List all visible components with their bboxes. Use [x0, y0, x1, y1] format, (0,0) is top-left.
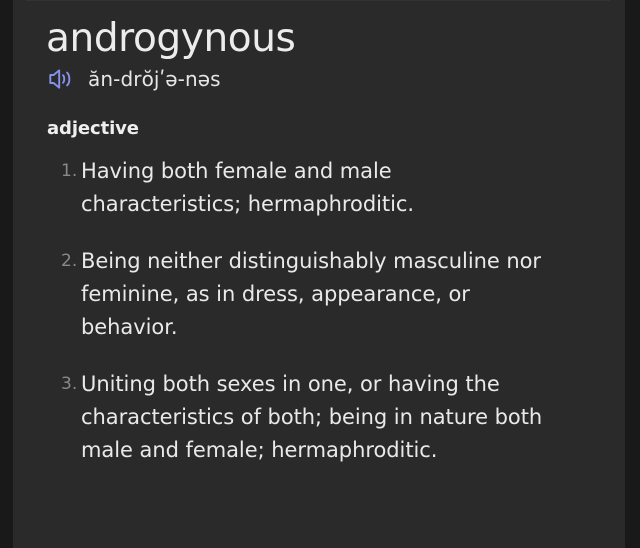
panel-top-divider	[26, 0, 610, 1]
definition-text: Having both female and male characterist…	[81, 155, 546, 221]
pronunciation-row: ăn-drŏjʹə-nəs	[47, 66, 601, 92]
definition-text: Being neither distinguishably masculine …	[81, 245, 546, 344]
definition-list: 1. Having both female and male character…	[46, 155, 601, 467]
screen-bezel-left	[0, 0, 13, 548]
pronunciation-text: ăn-drŏjʹə-nəs	[88, 67, 221, 91]
screen: androgynous ăn-drŏjʹə-nəs adjective 1. H…	[0, 0, 640, 548]
definition-item: 3. Uniting both sexes in one, or having …	[46, 368, 601, 467]
definition-number: 1.	[46, 155, 81, 188]
headword: androgynous	[46, 18, 601, 60]
dictionary-entry: androgynous ăn-drŏjʹə-nəs adjective 1. H…	[13, 0, 625, 467]
definition-item: 2. Being neither distinguishably masculi…	[46, 245, 601, 344]
definition-number: 2.	[46, 245, 81, 278]
speaker-audio-icon[interactable]	[47, 66, 75, 92]
definition-text: Uniting both sexes in one, or having the…	[81, 368, 546, 467]
dictionary-panel: androgynous ăn-drŏjʹə-nəs adjective 1. H…	[13, 0, 625, 548]
definition-number: 3.	[46, 368, 81, 401]
screen-bezel-right	[625, 0, 640, 548]
speaker-audio-icon-glyph	[48, 67, 74, 91]
part-of-speech: adjective	[47, 118, 601, 139]
definition-item: 1. Having both female and male character…	[46, 155, 601, 221]
